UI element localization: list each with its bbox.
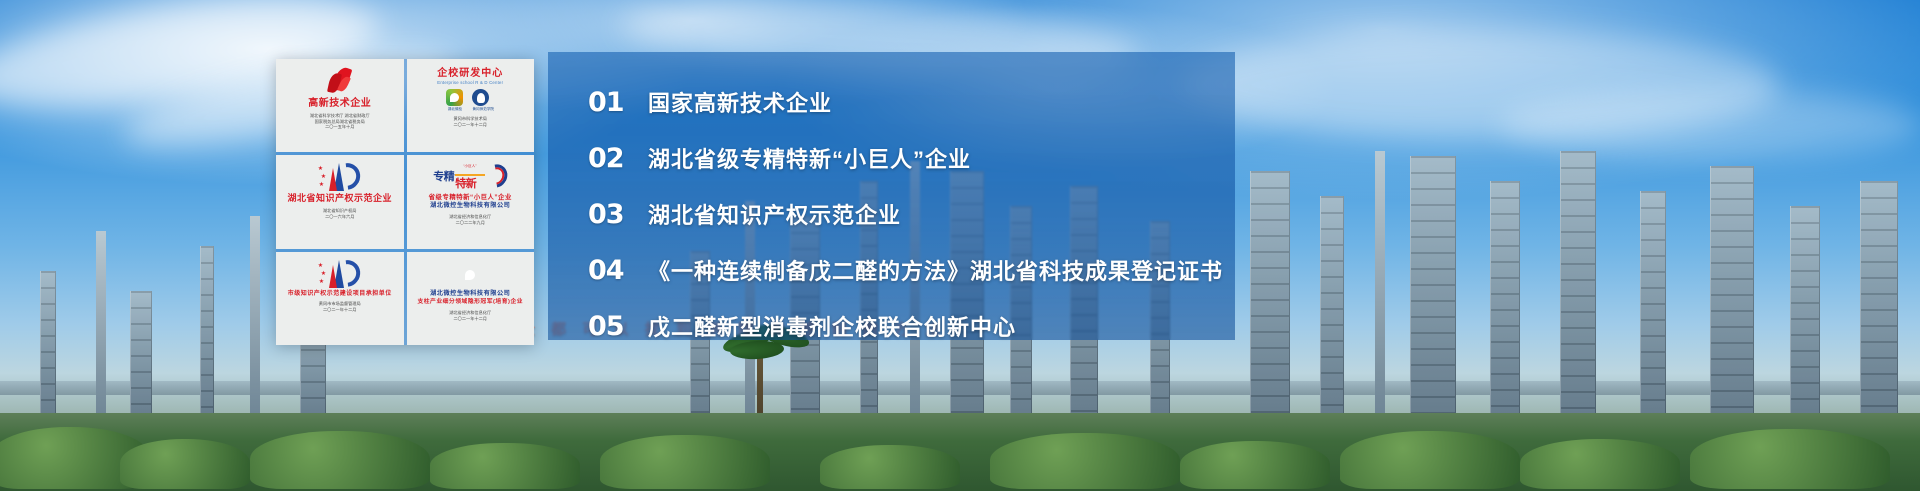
promo-banner: 全 都 可 以 找 到 消 除 和 控 制 的 方 法 高新技术企业 湖北省科学… — [0, 0, 1920, 491]
item-label: 《一种连续制备戊二醛的方法》湖北省科技成果登记证书 — [648, 254, 1223, 286]
certificate-title: 湖北省知识产权示范企业 — [287, 194, 392, 204]
certificate-card[interactable]: 专精特新 “小巨人” 省级专精特新“小巨人”企业 湖北微控生物科技有限公司 湖北… — [407, 155, 535, 248]
item-number: 03 — [588, 199, 648, 230]
certificate-card[interactable]: ★★★ 湖北省知识产权示范企业 湖北省知识产权局 二〇一六年六月 — [276, 155, 404, 248]
item-label: 国家高新技术企业 — [648, 86, 832, 118]
list-item: 04 《一种连续制备戊二醛的方法》湖北省科技成果登记证书 — [588, 254, 1225, 286]
cloud — [1500, 90, 1920, 160]
achievements-panel: 01 国家高新技术企业 02 湖北省级专精特新“小巨人”企业 03 湖北省知识产… — [548, 52, 1235, 340]
logo-caption: 湖北微检 — [446, 107, 463, 112]
list-item: 01 国家高新技术企业 — [588, 86, 1225, 118]
specialized-new-logo-icon: 专精特新 “小巨人” — [433, 160, 507, 194]
item-number: 04 — [588, 255, 648, 286]
certificate-title: 湖北微控生物科技有限公司 — [430, 291, 510, 298]
certificate-card[interactable]: 企校研发中心 Enterprise school R & D Center 湖北… — [407, 59, 535, 152]
item-number: 02 — [588, 143, 648, 174]
achievements-list: 01 国家高新技术企业 02 湖北省级专精特新“小巨人”企业 03 湖北省知识产… — [588, 86, 1225, 342]
ip-star-logo-icon: ★★★ — [318, 160, 362, 194]
item-label: 湖北省级专精特新“小巨人”企业 — [648, 142, 971, 174]
flame-logo-icon — [327, 64, 353, 98]
item-label: 戊二醛新型消毒剂企校联合创新中心 — [648, 310, 1016, 342]
certificate-issuer: 黄冈市科学技术局 二〇二一年十二月 — [453, 116, 487, 127]
certificate-issuer: 湖北省科学技术厅 湖北省财政厅 国家税务总局湖北省税务局 二〇一五年十月 — [310, 113, 370, 130]
certificate-title: 省级专精特新“小巨人”企业 — [429, 194, 512, 201]
certificate-title: 高新技术企业 — [308, 98, 371, 109]
certificate-subtitle: 支柱产业细分领域隐形冠军(培育)企业 — [417, 299, 523, 305]
certificate-issuer: 湖北省经济和信息化厅 二〇二一年十二月 — [449, 310, 491, 321]
certificate-card[interactable]: ★★★ 市级知识产权示范建设项目承担单位 黄冈市市场监督管理局 二〇二一年十二月 — [276, 252, 404, 345]
item-label: 湖北省知识产权示范企业 — [648, 198, 901, 230]
item-number: 01 — [588, 87, 648, 118]
certificate-title-en: Enterprise school R & D Center — [437, 80, 503, 85]
logo-caption: 黄冈师范学院 — [472, 107, 494, 112]
huanggang-normal-university-logo-icon — [472, 89, 489, 106]
certificate-subtitle: 湖北微控生物科技有限公司 — [430, 203, 510, 210]
list-item: 05 戊二醛新型消毒剂企校联合创新中心 — [588, 310, 1225, 342]
hubei-weijian-logo-icon — [446, 89, 463, 106]
certificate-card[interactable]: 湖北微控生物科技有限公司 支柱产业细分领域隐形冠军(培育)企业 湖北省经济和信息… — [407, 252, 535, 345]
certificate-grid: 高新技术企业 湖北省科学技术厅 湖北省财政厅 国家税务总局湖北省税务局 二〇一五… — [276, 59, 534, 345]
certificate-issuer: 湖北省知识产权局 二〇一六年六月 — [323, 208, 357, 219]
certificate-issuer: 黄冈市市场监督管理局 二〇二一年十二月 — [319, 301, 361, 312]
certificate-card[interactable]: 高新技术企业 湖北省科学技术厅 湖北省财政厅 国家税务总局湖北省税务局 二〇一五… — [276, 59, 404, 152]
certificate-title: 市级知识产权示范建设项目承担单位 — [288, 291, 392, 298]
certificate-title: 企校研发中心 — [437, 64, 503, 79]
certificate-issuer: 湖北省经济和信息化厅 二〇二二年九月 — [449, 214, 491, 225]
list-item: 02 湖北省级专精特新“小巨人”企业 — [588, 142, 1225, 174]
partner-logos: 湖北微检 黄冈师范学院 — [446, 89, 494, 112]
item-number: 05 — [588, 311, 648, 342]
weikong-logo-icon — [459, 257, 481, 291]
ip-star-logo-icon: ★★★ — [318, 257, 362, 291]
list-item: 03 湖北省知识产权示范企业 — [588, 198, 1225, 230]
